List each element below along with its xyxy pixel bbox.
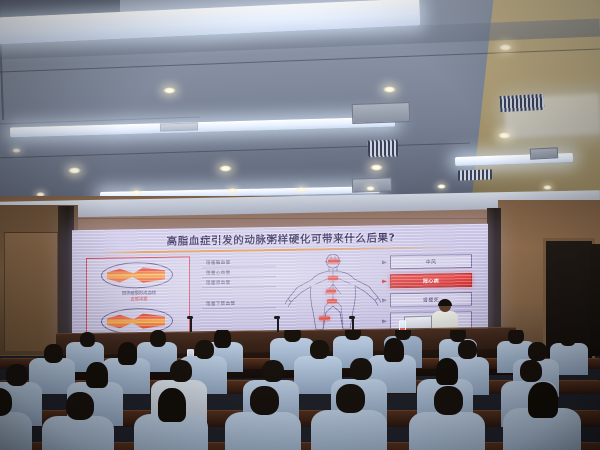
ceiling-downlight bbox=[499, 44, 512, 51]
blockage-marker bbox=[328, 259, 339, 263]
hvac-vent bbox=[458, 169, 492, 180]
light-trough bbox=[10, 117, 395, 138]
microphone-head-icon bbox=[274, 316, 280, 319]
presenter-hair bbox=[438, 299, 452, 306]
arrow-icon bbox=[382, 298, 387, 302]
blockage-label: 阻塞肾血管 bbox=[202, 277, 276, 288]
hvac-vent bbox=[352, 102, 411, 124]
microphone-head-icon bbox=[349, 316, 355, 319]
outcome-box-stroke: 中风 bbox=[390, 254, 472, 269]
arrow-icon bbox=[382, 319, 387, 323]
ceiling-downlight bbox=[383, 86, 396, 93]
blockage-marker bbox=[328, 276, 338, 280]
hvac-vent bbox=[530, 147, 559, 159]
ceiling-downlight bbox=[498, 132, 511, 139]
artery-cross-section-icon bbox=[101, 262, 173, 289]
microphone-head-icon bbox=[187, 316, 193, 319]
arrow-icon bbox=[382, 279, 387, 283]
ceiling-downlight bbox=[228, 188, 237, 193]
blockage-label: 阻塞下肢血管 bbox=[202, 298, 276, 309]
body-outline-svg bbox=[285, 253, 381, 335]
ceiling bbox=[0, 0, 600, 215]
ceiling-downlight bbox=[543, 185, 552, 190]
ceiling-downlight bbox=[68, 167, 81, 174]
plaque-caption: 斑块破裂形成血栓 血管闭塞 bbox=[93, 290, 185, 304]
hvac-vent bbox=[500, 94, 545, 112]
ceiling-downlight bbox=[297, 187, 306, 192]
human-body-vascular-diagram bbox=[285, 253, 381, 335]
ceiling-downlight bbox=[219, 165, 232, 172]
ceiling-downlight bbox=[132, 190, 141, 195]
plaque-illustration-panel: 斑块破裂形成血栓 血管闭塞 bbox=[86, 256, 190, 338]
plaque-caption-line2: 血管闭塞 bbox=[93, 297, 185, 305]
ceiling-downlight bbox=[163, 87, 176, 94]
hvac-vent bbox=[160, 122, 198, 131]
blockage-marker bbox=[326, 289, 336, 293]
outcome-box-coronary: 冠心病 bbox=[390, 273, 472, 288]
outcome-label: 中风 bbox=[426, 258, 437, 265]
ceiling-downlight bbox=[370, 164, 383, 171]
outcome-label: 冠心病 bbox=[423, 277, 439, 284]
blockage-label-column: 阻塞脑血管 阻塞心血管 阻塞肾血管 阻塞下肢血管 bbox=[202, 257, 276, 309]
ceiling-downlight bbox=[366, 186, 375, 191]
ceiling-downlight bbox=[437, 184, 446, 189]
audience-area bbox=[0, 330, 600, 450]
hvac-vent bbox=[368, 139, 399, 157]
conference-hall-photo: 高脂血症引发的动脉粥样硬化可带来什么后果? 斑块破裂形成血栓 血管闭塞 阻塞脑血… bbox=[0, 0, 600, 450]
arrow-icon bbox=[382, 260, 387, 264]
blockage-marker bbox=[327, 299, 337, 303]
ceiling-downlight bbox=[12, 148, 21, 153]
ceiling-seam bbox=[0, 143, 470, 159]
blockage-marker bbox=[319, 316, 330, 320]
